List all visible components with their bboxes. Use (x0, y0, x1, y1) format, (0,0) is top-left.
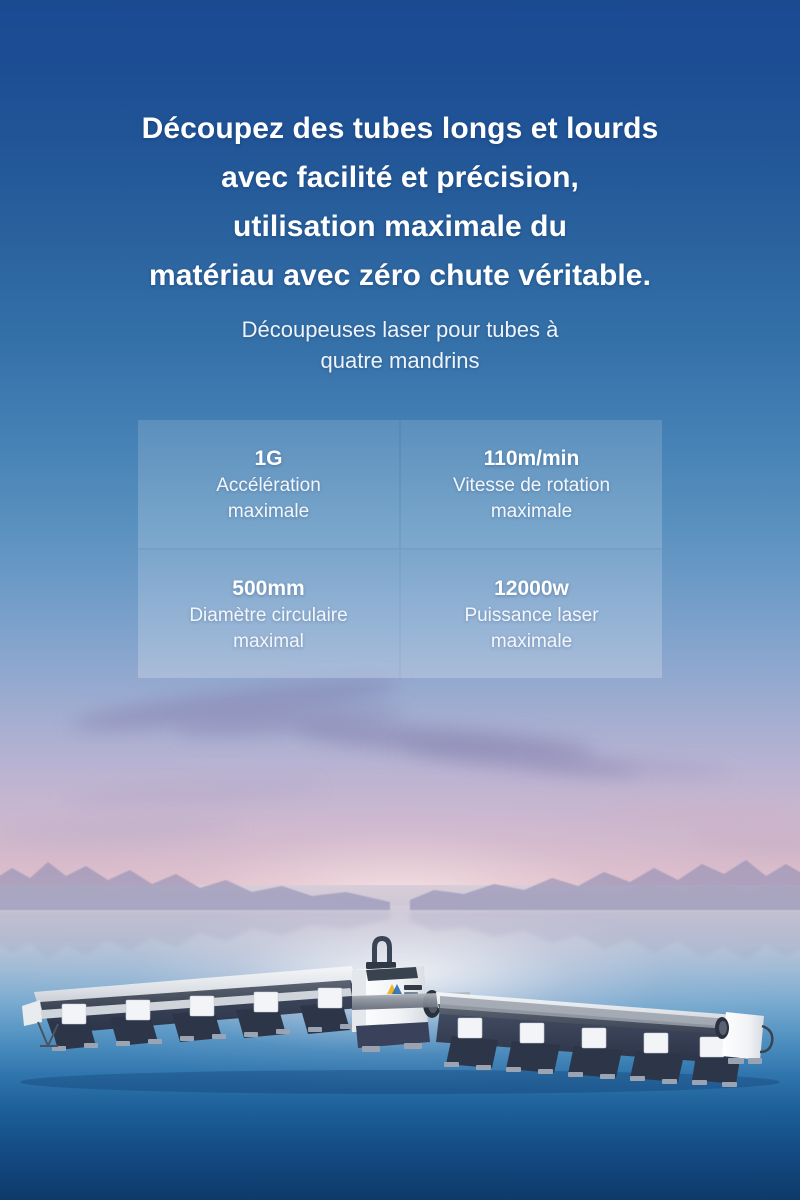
promo-banner: Découpez des tubes longs et lourds avec … (0, 0, 800, 1200)
headline-line-3: utilisation maximale du (0, 202, 800, 251)
spec-cell-acceleration: 1G Accélération maximale (138, 420, 399, 548)
spec-cell-laser-power: 12000w Puissance laser maximale (401, 550, 662, 678)
spec-value: 110m/min (484, 444, 580, 473)
mountain-range-right (410, 852, 800, 910)
spec-grid: 1G Accélération maximale 110m/min Vitess… (138, 420, 662, 678)
spec-label-line: maximale (491, 629, 572, 655)
spec-value: 12000w (494, 574, 569, 603)
page-subtitle: Découpeuses laser pour tubes à quatre ma… (0, 314, 800, 376)
spec-value: 500mm (232, 574, 304, 603)
spec-label-line: Puissance laser (464, 603, 598, 629)
spec-label-line: Vitesse de rotation (453, 473, 610, 499)
subtitle-line-2: quatre mandrins (0, 345, 800, 376)
spec-label-line: Diamètre circulaire (189, 603, 347, 629)
spec-cell-circular-diameter: 500mm Diamètre circulaire maximal (138, 550, 399, 678)
brand-logo (387, 984, 422, 995)
headline-line-1: Découpez des tubes longs et lourds (0, 104, 800, 153)
subtitle-line-1: Découpeuses laser pour tubes à (0, 314, 800, 345)
headline-line-4: matériau avec zéro chute véritable. (0, 251, 800, 300)
spec-value: 1G (254, 444, 282, 473)
spec-label-line: maximale (491, 499, 572, 525)
spec-label-line: maximal (233, 629, 304, 655)
headline-line-2: avec facilité et précision, (0, 153, 800, 202)
page-title: Découpez des tubes longs et lourds avec … (0, 104, 800, 300)
spec-label-line: Accélération (216, 473, 321, 499)
product-image-laser-tube-cutting-machine (0, 930, 800, 1100)
spec-label-line: maximale (228, 499, 309, 525)
mountain-range-left (0, 852, 390, 910)
spec-cell-rotation-speed: 110m/min Vitesse de rotation maximale (401, 420, 662, 548)
